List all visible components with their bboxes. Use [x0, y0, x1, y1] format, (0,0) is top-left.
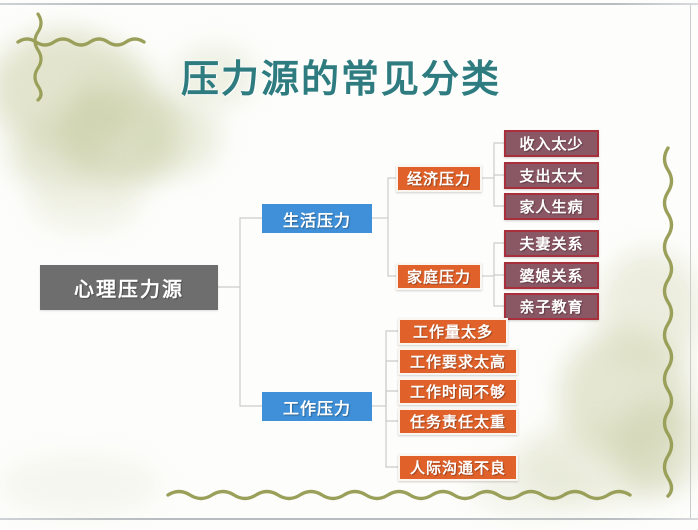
node-excessive-workload[interactable]: 工作量太多 — [398, 318, 508, 345]
node-poor-communication[interactable]: 人际沟通不良 — [398, 454, 518, 481]
node-inlaw-relationship[interactable]: 婆媳关系 — [504, 262, 599, 289]
node-family-stress[interactable]: 家庭压力 — [396, 263, 482, 290]
node-work-stress[interactable]: 工作压力 — [262, 392, 372, 421]
node-family-illness[interactable]: 家人生病 — [504, 193, 599, 220]
node-insufficient-time[interactable]: 工作时间不够 — [398, 378, 518, 405]
node-high-expense[interactable]: 支出太大 — [504, 162, 599, 189]
node-child-education[interactable]: 亲子教育 — [504, 293, 599, 320]
node-high-demands[interactable]: 工作要求太高 — [398, 348, 518, 375]
node-couple-relationship[interactable]: 夫妻关系 — [504, 230, 599, 257]
node-low-income[interactable]: 收入太少 — [504, 130, 599, 157]
node-life-stress[interactable]: 生活压力 — [262, 204, 372, 233]
node-heavy-responsibility[interactable]: 任务责任太重 — [398, 408, 518, 435]
node-root-psychological-stressors[interactable]: 心理压力源 — [40, 265, 218, 310]
slide-canvas: 压力源的常见分类 — [0, 0, 698, 530]
node-economic-stress[interactable]: 经济压力 — [396, 165, 482, 192]
